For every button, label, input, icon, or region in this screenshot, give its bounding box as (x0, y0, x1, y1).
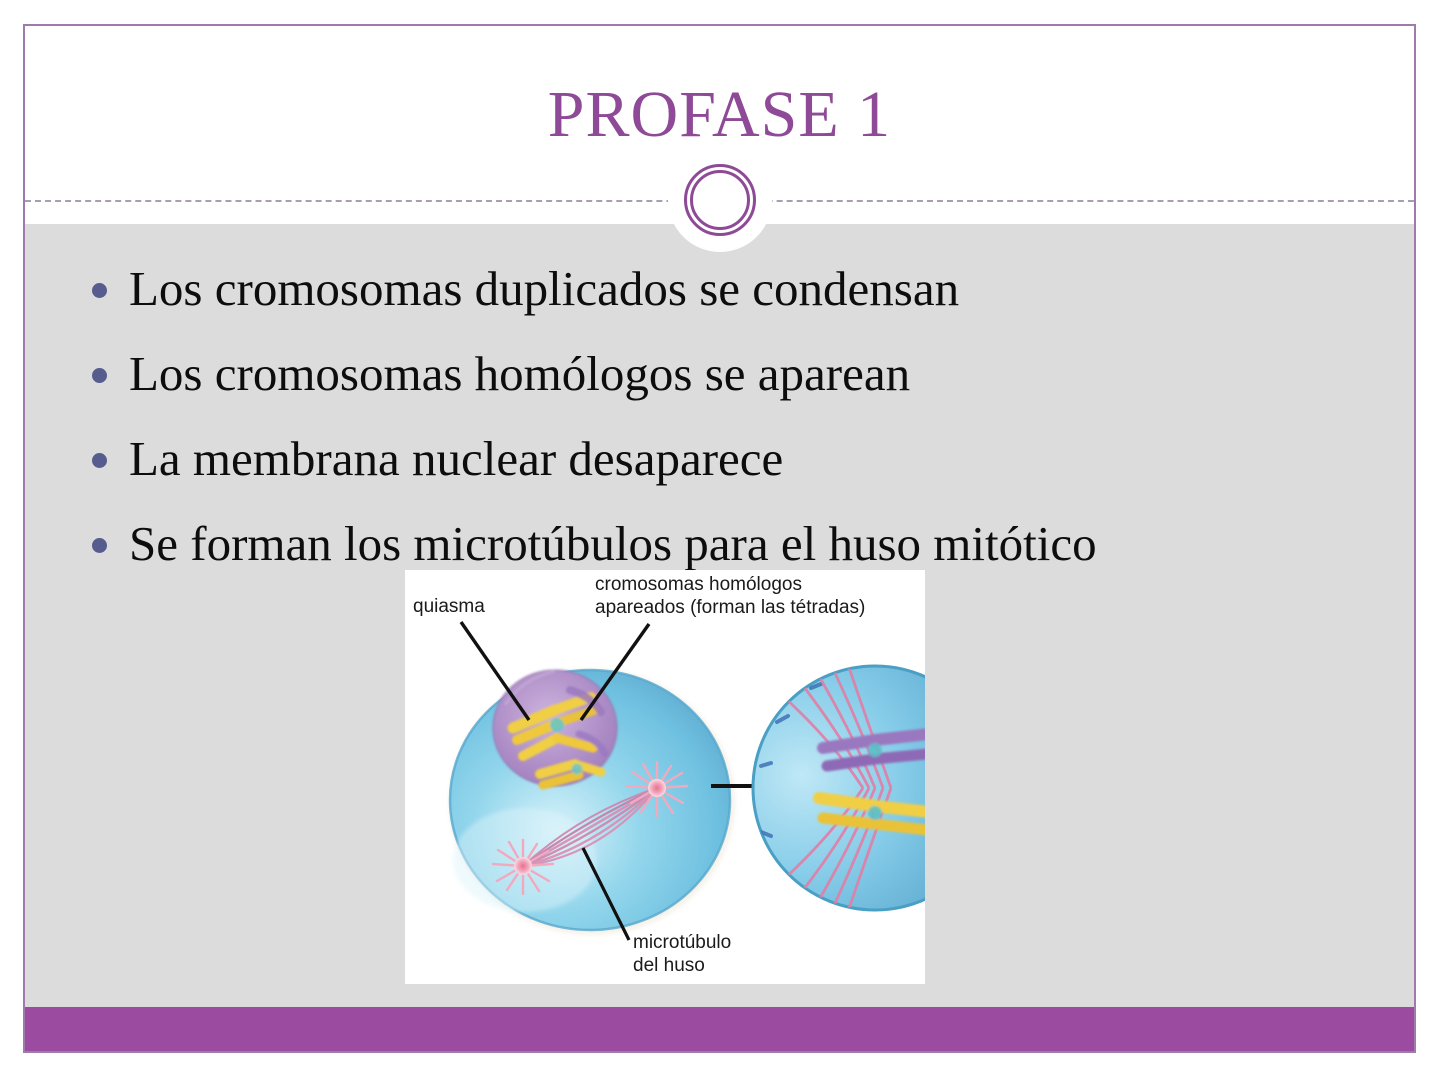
label-homologous-line2: apareados (forman las tétradas) (595, 597, 865, 618)
label-quiasma: quiasma (413, 596, 485, 617)
list-item: Los cromosomas homólogos se aparean (47, 335, 1387, 413)
meiosis-diagram-svg: quiasma cromosomas homólogos apareados (… (405, 570, 925, 984)
label-microtubule-line2: del huso (633, 955, 705, 976)
meiosis-prophase-figure: quiasma cromosomas homólogos apareados (… (405, 570, 925, 984)
bullet-list: Los cromosomas duplicados se condensan L… (47, 250, 1387, 590)
slide-body: Los cromosomas duplicados se condensan L… (25, 224, 1414, 1007)
label-homologous-line1: cromosomas homólogos (595, 574, 802, 595)
page-title: PROFASE 1 (25, 82, 1414, 148)
list-item: La membrana nuclear desaparece (47, 420, 1387, 498)
slide: PROFASE 1 Los cromosomas duplicados se c… (23, 24, 1416, 1053)
list-item: Los cromosomas duplicados se condensan (47, 250, 1387, 328)
footer-accent-bar (25, 1007, 1414, 1051)
decorative-ring-inner-icon (690, 170, 750, 230)
label-microtubule-line1: microtúbulo (633, 932, 731, 953)
